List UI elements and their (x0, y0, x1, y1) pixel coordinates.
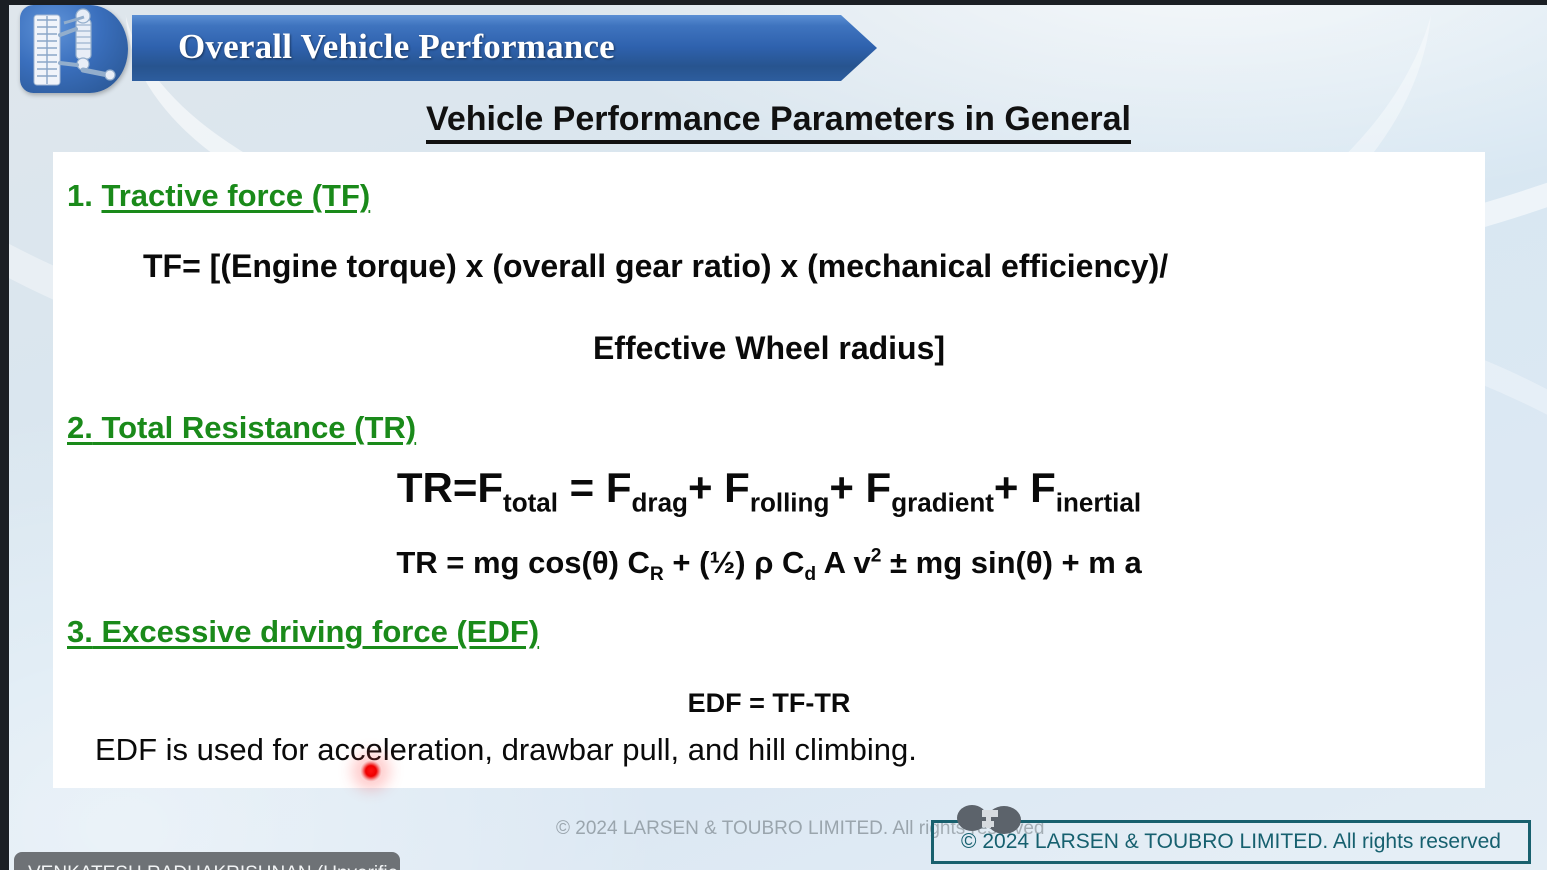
formula-edf: EDF = TF-TR (53, 688, 1485, 719)
participant-name-bar[interactable]: VENKATESH RADHAKRISHNAN (Unverified) — ＋ (14, 852, 400, 870)
section-heading-excessive-driving-force: 3. Excessive driving force (EDF) (67, 614, 539, 650)
participant-name-label: VENKATESH RADHAKRISHNAN (Unverified) (28, 863, 400, 870)
section-number-1: 1. (67, 178, 93, 213)
formula-total-resistance-components: TR=Ftotal = Fdrag+ Frolling+ Fgradient+ … (53, 464, 1485, 518)
tr-eq: = F (558, 464, 632, 511)
tr-sub-inertial: inertial (1056, 487, 1141, 517)
laser-pointer-dot (360, 760, 382, 782)
presentation-slide: Overall Vehicle Performance (0, 0, 1547, 870)
formula-tractive-force-line2: Effective Wheel radius] (53, 330, 1485, 367)
tre-a: TR = mg cos(θ) C (396, 545, 650, 580)
formula-total-resistance-expanded: TR = mg cos(θ) CR + (½) ρ Cd A v2 ± mg s… (53, 545, 1485, 586)
tre-sub-R: R (650, 564, 664, 585)
tre-sup-2: 2 (871, 546, 882, 567)
edf-description: EDF is used for acceleration, drawbar pu… (95, 732, 917, 768)
tr-sub-rolling: rolling (750, 487, 830, 517)
section-title-1: Tractive force (TF) (101, 178, 370, 213)
section-title-3: Excessive driving force (EDF) (101, 614, 539, 649)
page-title-text: Vehicle Performance Parameters in Genera… (426, 100, 1131, 144)
content-card: 1. Tractive force (TF) TF= [(Engine torq… (53, 152, 1485, 788)
section-number-2: 2. (67, 410, 93, 445)
tr-plus2: + F (829, 464, 891, 511)
section-title-2: Total Resistance (TR) (101, 410, 416, 445)
vehicle-suspension-logo-icon (20, 5, 128, 93)
tr-sub-drag: drag (632, 487, 688, 517)
formula-tractive-force-line1: TF= [(Engine torque) x (overall gear rat… (143, 248, 1168, 285)
section-number-3: 3. (67, 614, 93, 649)
tre-d: ± mg sin(θ) + m a (881, 545, 1141, 580)
section-heading-tractive-force: 1. Tractive force (TF) (67, 178, 370, 214)
tr-lead: TR=F (397, 464, 503, 511)
tre-b: + (½) ρ C (664, 545, 805, 580)
tr-sub-total: total (503, 487, 558, 517)
tre-sub-d: d (804, 564, 816, 585)
tr-plus1: + F (688, 464, 750, 511)
tr-sub-gradient: gradient (891, 487, 994, 517)
section-heading-total-resistance: 2. Total Resistance (TR) (67, 410, 416, 446)
page-title: Vehicle Performance Parameters in Genera… (0, 100, 1547, 139)
banner-title: Overall Vehicle Performance (178, 27, 615, 67)
tr-plus3: + F (994, 464, 1056, 511)
textbox-drag-handle-icon[interactable] (955, 803, 1023, 835)
slide-header-banner: Overall Vehicle Performance (20, 5, 880, 91)
tre-c: A v (816, 545, 871, 580)
footer-copyright-text: © 2024 LARSEN & TOUBRO LIMITED. All righ… (961, 830, 1501, 854)
